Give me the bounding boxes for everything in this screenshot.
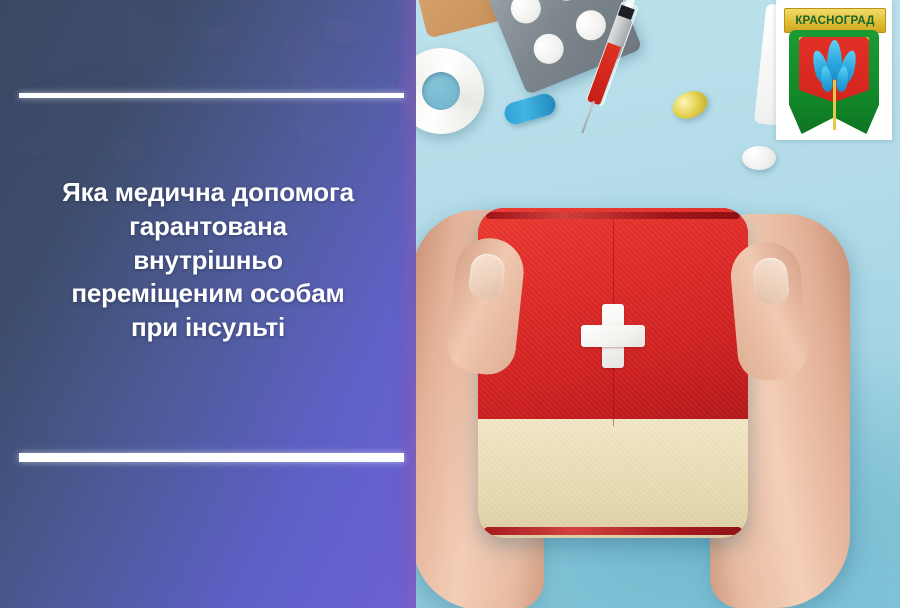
- first-aid-kit-photo: [418, 186, 838, 608]
- krasnohrad-logo: КРАСНОГРАД: [776, 0, 892, 140]
- headline-line: гарантована: [10, 210, 406, 244]
- right-thumbnail: [752, 257, 790, 306]
- headline-line: переміщеним особам: [10, 277, 406, 311]
- kit-zipper: [486, 212, 740, 219]
- gel-capsule-prop: [668, 86, 711, 124]
- coat-of-arms-shield: [789, 30, 879, 134]
- left-thumbnail: [468, 252, 506, 299]
- headline-line: Яка медична допомога: [10, 176, 406, 210]
- poster-canvas: КРАСНОГРАД Яка медична допомога гарантов…: [0, 0, 900, 608]
- kit-hem: [484, 527, 742, 535]
- kit-cream-panel: [478, 419, 748, 538]
- headline: Яка медична допомога гарантована внутріш…: [10, 176, 406, 345]
- blue-flame-icon: [812, 40, 856, 94]
- headline-line: при інсульті: [10, 311, 406, 345]
- blue-capsule-prop: [502, 91, 558, 126]
- divider-rule-bottom: [19, 453, 404, 462]
- headline-line: внутрішньо: [10, 244, 406, 278]
- medical-cross-icon: [581, 304, 645, 368]
- tablet-prop: [742, 146, 776, 170]
- logo-banner-label: КРАСНОГРАД: [795, 15, 874, 27]
- medical-tape-hole: [422, 72, 460, 110]
- divider-rule-top: [19, 93, 404, 98]
